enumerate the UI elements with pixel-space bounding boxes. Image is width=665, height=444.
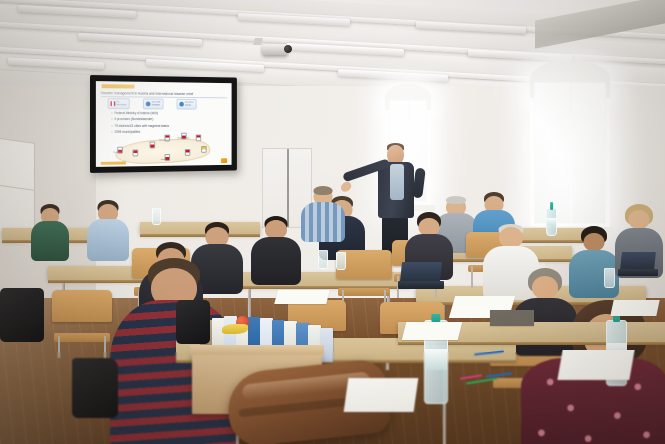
floor-bag (176, 300, 210, 344)
attendee-hair (446, 196, 466, 204)
province-shield (196, 135, 201, 142)
austria-provinces-map: Vorarlberg Oberoesterreich Niederoesterr… (111, 133, 212, 167)
un-ocha-logo: UN-OCHA INSARAG (143, 98, 163, 109)
eu-logo: EU Mechanism (108, 98, 130, 109)
attendee-head (499, 227, 523, 248)
attendee-torso (251, 237, 301, 285)
screen-surface: Disaster management in Austria and inter… (96, 81, 232, 167)
un-globe-icon (146, 101, 151, 106)
slide-logo-row: EU Mechanism UN-OCHA INSARAG (108, 98, 197, 109)
banana (222, 324, 248, 334)
province-label: Niederoesterreich (177, 138, 189, 139)
province-shield (201, 146, 206, 153)
paper-sheet (274, 290, 329, 304)
slide-bullet: •79 districts/15 cities with magistrat s… (111, 124, 224, 128)
slide-accent-bar (102, 84, 135, 88)
slide-footer-bar (101, 162, 126, 165)
attendee-blue-check-shirt (300, 186, 346, 244)
paper-sheet (402, 322, 462, 340)
projection-screen: Disaster management in Austria and inter… (90, 75, 237, 173)
attendee-torso (31, 221, 69, 261)
slide-bullet-text: 9 provinces (Bundeslaender) (114, 117, 153, 121)
floor-bag (72, 358, 118, 418)
chair-seat (338, 288, 390, 296)
laptop-screen (400, 262, 442, 282)
drinking-glass (152, 208, 161, 225)
attendee-hair (314, 186, 333, 195)
laptop[interactable] (398, 262, 442, 292)
laptop-screen (620, 252, 656, 270)
drinking-glass (318, 250, 328, 269)
window-glass (534, 82, 606, 224)
province-shield (133, 150, 139, 157)
paper-sheet (610, 300, 659, 316)
attendee-head (629, 210, 650, 229)
notepad (490, 310, 534, 326)
province-label: Oberoesterreich (159, 141, 170, 142)
province-label: Steiermark (161, 160, 168, 161)
chair[interactable] (52, 290, 112, 342)
presenter-arm (412, 168, 426, 199)
presentation-slide: Disaster management in Austria and inter… (96, 81, 232, 167)
attendee-black-top-center (250, 216, 302, 284)
slide-title-rule (101, 96, 227, 98)
attendee-green-chair-left (30, 204, 70, 260)
water-bottle (546, 208, 557, 236)
slide-bullet: •9 provinces (Bundeslaender) (111, 117, 224, 121)
slide-bullet: •Federal Ministry of Interior (MOI) (111, 111, 224, 115)
presenter-shirt (390, 164, 404, 200)
attendee-torso (87, 219, 129, 261)
province-label: Vorarlberg (113, 153, 120, 154)
slide-bullet-text: 79 districts/15 cities with magistrat st… (114, 124, 169, 128)
partner-logo-line2: UNDAC (185, 104, 192, 106)
bottle-label (425, 349, 447, 370)
partner-circle-icon (179, 102, 184, 107)
paper-sheet (344, 378, 419, 412)
laptop-keyboard[interactable] (398, 281, 444, 289)
laptop[interactable] (618, 252, 658, 278)
province-shield (150, 142, 156, 149)
eu-logo-line2: Mechanism (117, 104, 127, 106)
attendee-head (532, 276, 558, 299)
attendee-light-blue-shirt (86, 200, 130, 260)
eu-flag-icon (110, 101, 115, 106)
attendee-torso (301, 202, 345, 242)
province-shield (185, 149, 190, 156)
bottle-label (547, 218, 556, 225)
chair-back (52, 290, 112, 322)
partner-logo: UN-CMCS UNDAC (176, 99, 196, 110)
slide-bullet-text: Federal Ministry of Interior (MOI) (114, 111, 158, 115)
window-right-arched (530, 78, 610, 228)
conference-room-photo: Disaster management in Austria and inter… (0, 0, 665, 444)
floor-bag (0, 288, 44, 342)
ceiling-projector (262, 44, 288, 55)
un-logo-line2: INSARAG (152, 104, 160, 106)
slide-footer-logo (221, 158, 227, 163)
chair-seat (54, 333, 109, 342)
austria-outline (115, 138, 211, 166)
drinking-glass (336, 252, 346, 270)
box-lip (190, 345, 325, 355)
laptop-keyboard[interactable] (618, 269, 658, 276)
attendee-head (584, 233, 605, 251)
drinking-glass (604, 268, 615, 288)
paper-sheet (557, 350, 634, 380)
